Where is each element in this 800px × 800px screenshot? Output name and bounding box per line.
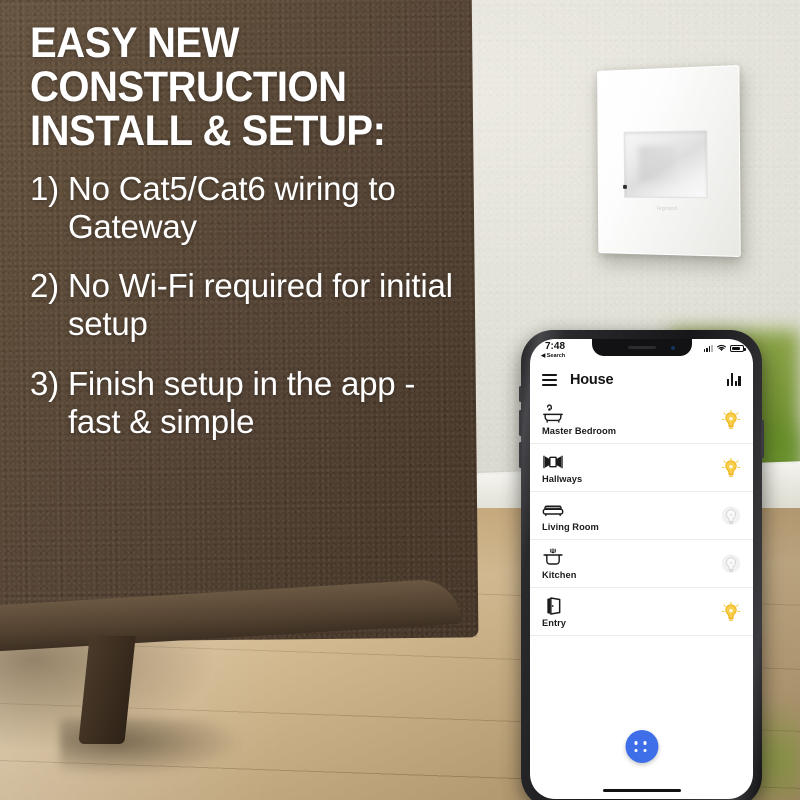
headline-line-1: EASY NEW	[30, 22, 430, 66]
door-icon	[542, 596, 564, 616]
cellular-signal-icon	[704, 345, 713, 352]
list-item-label: Master Bedroom	[542, 426, 616, 436]
list-item[interactable]: Master Bedroom	[530, 396, 753, 444]
status-bar-left: 7:48 ◀ Search	[541, 342, 565, 360]
list-item-label: Kitchen	[542, 570, 576, 580]
light-bulb-icon-on[interactable]	[721, 457, 741, 479]
clock: 7:48	[545, 342, 565, 352]
list-item-label: Entry	[542, 618, 566, 628]
app-title: House	[570, 372, 727, 388]
light-bulb-icon-off[interactable]	[721, 505, 741, 527]
promo-image: EASY NEW CONSTRUCTION INSTALL & SETUP: 1…	[0, 0, 800, 800]
promo-copy: EASY NEW CONSTRUCTION INSTALL & SETUP: 1…	[30, 22, 460, 463]
app-bar: House	[530, 363, 753, 396]
list-item[interactable]: Entry	[530, 588, 753, 636]
light-bulb-icon-off[interactable]	[721, 553, 741, 575]
status-bar: 7:48 ◀ Search	[530, 339, 753, 363]
list-item-text: Finish setup in the app - fast & simple	[68, 365, 460, 441]
back-to-app-label: Search	[547, 353, 565, 359]
room-row-left: Master Bedroom	[542, 404, 616, 436]
list-item[interactable]: Hallways	[530, 444, 753, 492]
status-bar-right	[704, 344, 744, 352]
sofa-icon	[542, 500, 564, 520]
wall-switch-plate[interactable]: legrand	[597, 65, 741, 257]
home-indicator[interactable]	[603, 789, 681, 793]
list-item-number: 2)	[30, 267, 59, 343]
list-item-number: 3)	[30, 365, 59, 441]
wall-sconce-icon	[542, 452, 564, 472]
status-led-icon	[623, 185, 627, 189]
phone-screen: 7:48 ◀ Search House	[530, 339, 753, 799]
room-row-left: Entry	[542, 596, 566, 628]
list-item[interactable]: Living Room	[530, 492, 753, 540]
equalizer-icon[interactable]	[727, 373, 741, 386]
mute-switch[interactable]	[519, 386, 522, 402]
list-item: 1) No Cat5/Cat6 wiring to Gateway	[30, 170, 460, 246]
list-item: 3) Finish setup in the app - fast & simp…	[30, 365, 460, 441]
light-bulb-icon-on[interactable]	[721, 409, 741, 431]
list-item-number: 1)	[30, 170, 59, 246]
brand-label: legrand	[598, 205, 740, 213]
battery-icon	[730, 345, 744, 352]
volume-down-button[interactable]	[519, 442, 522, 468]
room-row-left: Living Room	[542, 500, 599, 532]
power-button[interactable]	[761, 420, 764, 458]
headline-line-3: INSTALL & SETUP:	[30, 110, 430, 154]
list-item-text: No Cat5/Cat6 wiring to Gateway	[68, 170, 460, 246]
switch-paddle[interactable]	[624, 130, 708, 198]
cooking-pot-icon	[542, 548, 564, 568]
headline-line-2: CONSTRUCTION	[30, 66, 430, 110]
list-item: 2) No Wi-Fi required for initial setup	[30, 267, 460, 343]
volume-up-button[interactable]	[519, 410, 522, 436]
page-title: EASY NEW CONSTRUCTION INSTALL & SETUP:	[30, 22, 430, 154]
benefit-list: 1) No Cat5/Cat6 wiring to Gateway 2) No …	[30, 170, 460, 442]
room-row-left: Kitchen	[542, 548, 576, 580]
light-bulb-icon-on[interactable]	[721, 601, 741, 623]
list-item-label: Living Room	[542, 522, 599, 532]
back-to-app-link[interactable]: ◀ Search	[541, 354, 565, 360]
list-item[interactable]: Kitchen	[530, 540, 753, 588]
wifi-icon	[716, 344, 727, 352]
grid-dots-icon[interactable]	[625, 730, 658, 763]
bathtub-icon	[542, 404, 564, 424]
room-list: Master Bedroom	[530, 396, 753, 636]
hamburger-menu-icon[interactable]	[542, 374, 557, 386]
list-item-text: No Wi-Fi required for initial setup	[68, 267, 460, 343]
room-row-left: Hallways	[542, 452, 582, 484]
list-item-label: Hallways	[542, 474, 582, 484]
